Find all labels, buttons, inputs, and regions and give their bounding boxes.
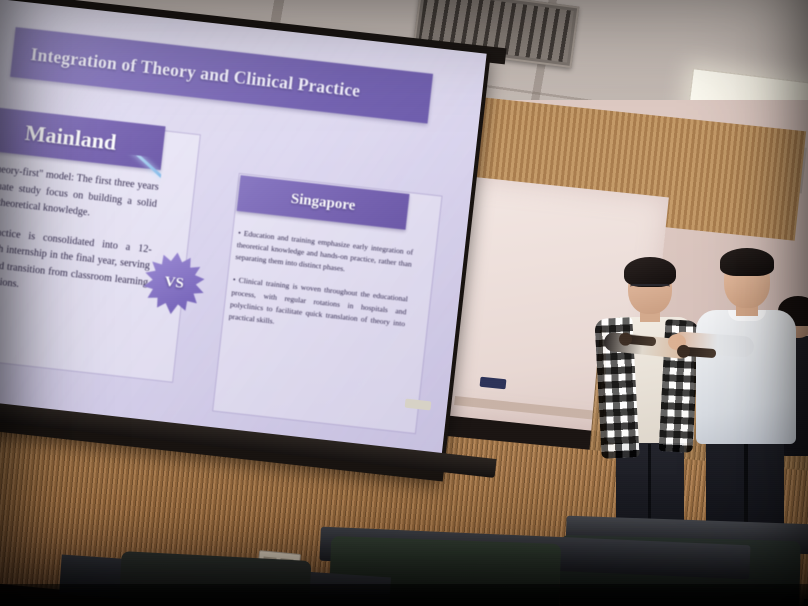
singapore-heading: Singapore — [290, 190, 356, 214]
mainland-bullets: • Adopts a "theory-first" model: The fir… — [0, 156, 160, 321]
vs-label: VS — [142, 271, 206, 295]
mainland-bullet-2: • Clinical practice is consolidated into… — [0, 218, 153, 308]
singapore-bullet-2: • Clinical training is woven throughout … — [228, 274, 408, 342]
projection-screen: Integration of Theory and Clinical Pract… — [0, 0, 491, 482]
presenter-white-tshirt — [690, 252, 802, 542]
vs-badge: VS — [140, 249, 209, 318]
slide-title-bar: Integration of Theory and Clinical Pract… — [10, 27, 433, 124]
starburst-icon: VS — [140, 249, 209, 318]
singapore-bullets: • Education and training emphasize early… — [227, 227, 414, 353]
presenter-plaid-shirt — [596, 262, 704, 534]
presenter-a-hair — [624, 257, 676, 287]
presenter-b-hair — [720, 248, 774, 276]
slide-title: Integration of Theory and Clinical Pract… — [12, 41, 362, 101]
eyeglasses-icon — [630, 284, 670, 294]
mainland-heading: Mainland — [24, 120, 118, 156]
foreground-shadow — [0, 584, 808, 606]
presenter-b-torso — [696, 310, 796, 444]
lecture-hall-photo: Integration of Theory and Clinical Pract… — [0, 0, 808, 606]
